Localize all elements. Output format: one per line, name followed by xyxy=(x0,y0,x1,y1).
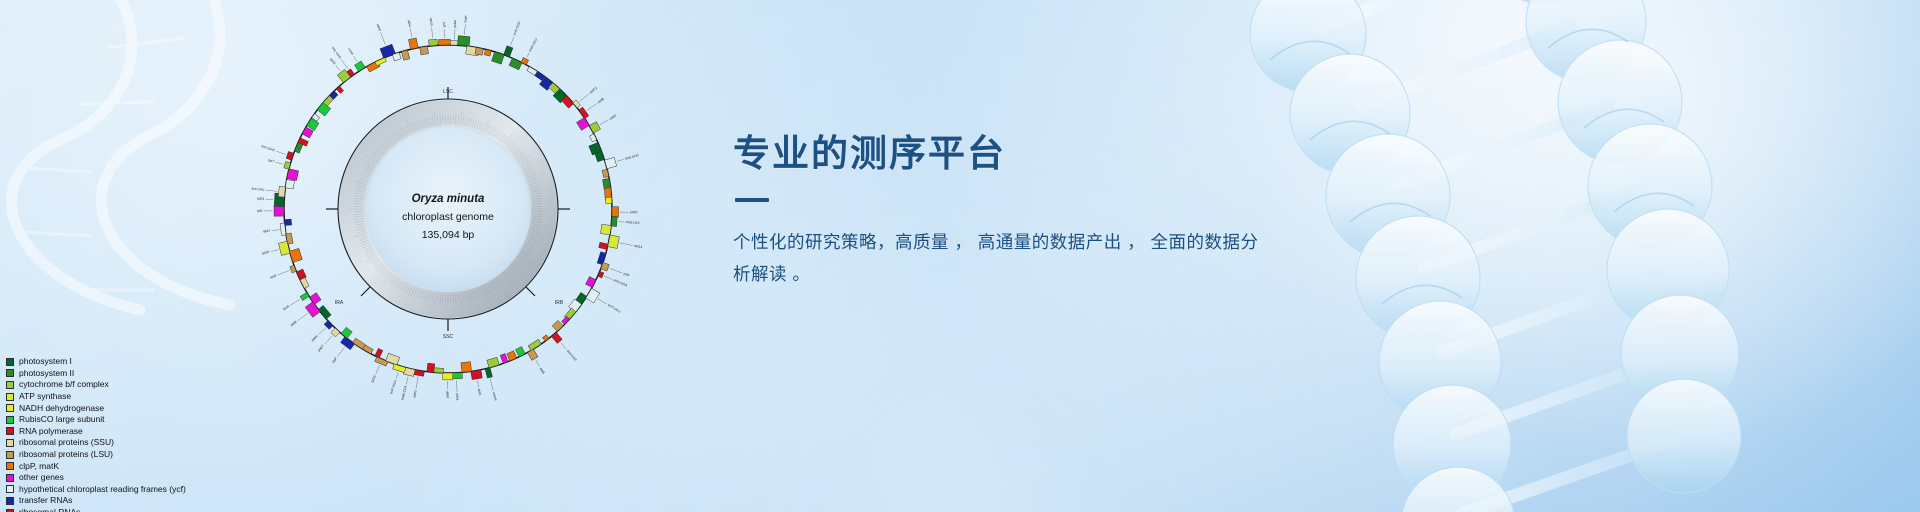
gene-feature-block xyxy=(408,38,418,49)
gene-leader-line xyxy=(353,56,357,62)
gene-label: rps14 xyxy=(634,244,643,250)
gene-label: psbL xyxy=(455,393,459,401)
legend-item-label: photosystem II xyxy=(19,369,74,378)
legend-color-swatch xyxy=(6,474,14,482)
legend-item: transfer RNAs xyxy=(6,495,306,507)
gene-label: psbF xyxy=(446,391,450,398)
gene-leader-line xyxy=(410,29,412,38)
gene-leader-line xyxy=(561,343,567,350)
legend-item-label: cytochrome b/f complex xyxy=(19,380,109,389)
gene-feature-block xyxy=(601,224,612,234)
gene-label: psbA xyxy=(453,19,457,27)
legend-item-label: NADH dehydrogenase xyxy=(19,404,104,413)
gene-leader-line xyxy=(456,380,457,392)
gene-label: rpoC1 xyxy=(589,85,599,94)
gene-label: psbZ xyxy=(630,210,637,214)
gene-label: ycf1 xyxy=(442,22,446,28)
gene-label: rpl23 xyxy=(257,197,265,201)
gene-feature-block xyxy=(605,197,612,203)
gene-feature-block xyxy=(599,242,609,249)
legend-item-label: ribosomal proteins (SSU) xyxy=(19,438,114,447)
gene-leader-line xyxy=(610,268,623,273)
genome-type-label: chloroplast genome xyxy=(402,211,494,223)
gene-label: psbN xyxy=(310,334,319,343)
gene-label: rps7 xyxy=(267,158,274,164)
gene-label: rpoB xyxy=(597,96,606,104)
gene-feature-block xyxy=(509,58,522,70)
legend-item: ribosomal proteins (SSU) xyxy=(6,437,306,449)
legend-item: cytochrome b/f complex xyxy=(6,379,306,391)
genome-legend: photosystem Iphotosystem IIcytochrome b/… xyxy=(6,356,306,512)
gene-feature-block xyxy=(386,353,400,365)
gene-feature-block xyxy=(484,49,491,56)
gene-leader-line xyxy=(600,120,609,125)
gene-leader-line xyxy=(376,365,380,374)
gene-label: trnV-UAC xyxy=(566,349,578,363)
gene-label: ndhA xyxy=(406,19,412,28)
gene-leader-line xyxy=(298,313,308,321)
gene-feature-block xyxy=(590,134,597,142)
genome-map-svg: LSC IRA SSC IRB Oryza minuta chloroplast… xyxy=(243,4,653,414)
legend-item: ATP synthase xyxy=(6,391,306,403)
gene-label: trnI-CAU xyxy=(251,187,265,192)
gene-feature-block xyxy=(605,157,617,168)
legend-item: other genes xyxy=(6,472,306,484)
gene-leader-line xyxy=(276,151,286,154)
legend-item-label: transfer RNAs xyxy=(19,496,72,505)
gene-feature-block xyxy=(586,288,600,303)
legend-item-label: clpP, matK xyxy=(19,462,59,471)
gene-leader-line xyxy=(510,37,513,46)
gene-leader-line xyxy=(477,380,478,387)
gene-label: rpl22 xyxy=(263,229,271,234)
legend-color-swatch xyxy=(6,427,14,435)
gene-leader-line xyxy=(620,243,633,246)
gene-feature-block xyxy=(427,363,435,372)
gene-feature-block xyxy=(284,219,291,225)
gene-feature-block xyxy=(500,354,508,364)
gene-feature-block xyxy=(475,47,483,55)
legend-item-label: hypothetical chloroplast reading frames … xyxy=(19,485,186,494)
region-label-irb: IRB xyxy=(555,300,564,306)
gene-feature-block xyxy=(612,207,619,218)
gene-label: petN xyxy=(609,113,618,120)
gene-leader-line xyxy=(272,230,280,231)
gene-leader-line xyxy=(416,377,418,389)
gene-feature-block xyxy=(485,368,492,379)
legend-color-swatch xyxy=(6,462,14,470)
gene-leader-line xyxy=(324,336,332,345)
gene-leader-line xyxy=(276,162,284,164)
page-title: 专业的测序平台 xyxy=(733,132,1353,176)
legend-color-swatch xyxy=(6,439,14,447)
gene-feature-block xyxy=(285,180,294,189)
gene-label: trnG-UCC xyxy=(626,220,642,225)
gene-leader-line xyxy=(319,328,326,335)
legend-color-swatch xyxy=(6,369,14,377)
gene-label: psbT xyxy=(317,344,325,352)
gene-feature-block xyxy=(289,248,302,262)
gene-label: trnW-CCA xyxy=(400,384,408,400)
legend-item: NADH dehydrogenase xyxy=(6,402,306,414)
gene-feature-block xyxy=(552,320,563,331)
legend-item-label: ribosomal RNAs xyxy=(19,508,80,512)
gene-label: ccsA xyxy=(347,47,355,56)
gene-feature-block xyxy=(611,216,617,226)
legend-color-swatch xyxy=(6,451,14,459)
gene-feature-block xyxy=(573,100,581,108)
gene-feature-block xyxy=(305,302,320,318)
gene-feature-block xyxy=(527,349,538,360)
gene-feature-block xyxy=(586,277,596,288)
legend-item: ribosomal proteins (LSU) xyxy=(6,449,306,461)
gene-feature-block xyxy=(487,357,499,368)
gene-label: trnR-UCU xyxy=(528,37,539,52)
gene-feature-block xyxy=(504,46,513,57)
gene-feature-block xyxy=(341,337,355,350)
gene-feature-block xyxy=(331,328,340,337)
legend-color-swatch xyxy=(6,416,14,424)
legend-color-swatch xyxy=(6,358,14,366)
genome-center-disc xyxy=(366,127,530,291)
legend-row-container: photosystem Iphotosystem IIcytochrome b/… xyxy=(6,356,306,512)
gene-label: trnS-GCU xyxy=(512,20,521,36)
gene-feature-block xyxy=(471,370,483,380)
gene-label: ycf3 xyxy=(623,272,630,278)
gene-feature-block xyxy=(375,348,383,358)
gene-label: rps15 xyxy=(429,17,434,26)
gene-leader-line xyxy=(406,377,408,384)
legend-item-label: ATP synthase xyxy=(19,392,71,401)
legend-item-label: ribosomal proteins (LSU) xyxy=(19,450,113,459)
gene-feature-block xyxy=(438,39,450,45)
gene-feature-block xyxy=(290,265,296,273)
gene-leader-line xyxy=(598,299,607,304)
gene-leader-line xyxy=(290,299,300,305)
genome-species-name: Oryza minuta xyxy=(412,193,485,205)
gene-leader-line xyxy=(490,379,493,391)
region-label-lsc: LSC xyxy=(443,89,453,95)
legend-item-label: RNA polymerase xyxy=(19,427,83,436)
gene-feature-block xyxy=(420,46,429,55)
gene-label: petG xyxy=(412,390,417,398)
gene-feature-block xyxy=(608,235,620,249)
gene-feature-block xyxy=(355,61,365,71)
gene-leader-line xyxy=(536,360,540,367)
legend-item: clpP, matK xyxy=(6,460,306,472)
gene-feature-block xyxy=(341,327,352,338)
gene-leader-line xyxy=(337,347,344,356)
gene-label: matK xyxy=(463,14,468,23)
gene-feature-block xyxy=(461,362,472,373)
gene-leader-line xyxy=(587,103,597,110)
legend-item-label: other genes xyxy=(19,473,64,482)
gene-label: trnE-UUC xyxy=(625,153,640,161)
legend-item: photosystem II xyxy=(6,368,306,380)
legend-item-label: RubisCO large subunit xyxy=(19,415,105,424)
hero-copy-block: 专业的测序平台 个性化的研究策略，高质量 ， 高通量的数据产出 ， 全面的数据分… xyxy=(733,132,1353,290)
gene-label: cemA xyxy=(492,392,498,402)
gene-feature-block xyxy=(542,335,548,341)
legend-color-swatch xyxy=(6,509,14,512)
region-label-ssc: SSC xyxy=(443,334,454,340)
gene-label: trnT-UGU xyxy=(607,303,622,314)
gene-feature-block xyxy=(515,347,525,357)
gene-label: rps8 xyxy=(269,274,277,280)
gene-feature-block xyxy=(274,205,284,216)
gene-label: trnV-GAC xyxy=(261,144,276,152)
legend-color-swatch xyxy=(6,381,14,389)
hero-description: 个性化的研究策略，高质量 ， 高通量的数据产出 ， 全面的数据分析解读 。 xyxy=(733,226,1263,291)
gene-label: petB xyxy=(290,319,298,327)
legend-item-label: photosystem I xyxy=(19,357,72,366)
gene-feature-block xyxy=(287,169,299,181)
gene-leader-line xyxy=(271,250,279,252)
gene-leader-line xyxy=(617,159,624,161)
gene-label: trnS-GGA xyxy=(613,278,629,288)
gene-leader-line xyxy=(341,60,348,69)
gene-feature-block xyxy=(577,118,590,131)
legend-color-swatch xyxy=(6,393,14,401)
legend-color-swatch xyxy=(6,485,14,493)
gene-label: rpl33 xyxy=(370,375,377,383)
gene-label: atpB xyxy=(539,367,546,376)
gene-leader-line xyxy=(278,270,290,275)
gene-label: rpl2 xyxy=(257,209,263,213)
gene-label: rpoA xyxy=(282,304,291,311)
gene-leader-line xyxy=(527,53,530,58)
gene-feature-block xyxy=(429,39,438,46)
legend-color-swatch xyxy=(6,497,14,505)
hero-banner: LSC IRA SSC IRB Oryza minuta chloroplast… xyxy=(0,0,1920,512)
gene-feature-block xyxy=(443,373,453,380)
gene-feature-block xyxy=(589,122,600,133)
gene-leader-line xyxy=(604,276,612,279)
gene-feature-block xyxy=(401,50,409,60)
gene-feature-block xyxy=(507,351,517,361)
genome-size-label: 135,094 bp xyxy=(422,229,475,241)
gene-leader-line xyxy=(579,94,588,102)
gene-leader-line xyxy=(396,372,398,378)
region-label-ira: IRA xyxy=(335,300,344,306)
gene-leader-line xyxy=(336,65,340,71)
gene-label: trnP-UGG xyxy=(389,379,397,395)
legend-item: photosystem I xyxy=(6,356,306,368)
chloroplast-genome-map: LSC IRA SSC IRB Oryza minuta chloroplast… xyxy=(243,4,653,414)
gene-feature-block xyxy=(278,186,285,197)
gene-label: rpl16 xyxy=(262,250,270,256)
gene-label: rpl32 xyxy=(329,57,337,65)
gene-leader-line xyxy=(381,33,386,46)
title-divider xyxy=(735,198,769,202)
gene-leader-line xyxy=(464,25,465,35)
gene-label: ndhE xyxy=(376,23,383,32)
legend-item: RNA polymerase xyxy=(6,426,306,438)
gene-label: clpP xyxy=(331,356,339,364)
gene-leader-line xyxy=(266,190,277,191)
legend-item: RubisCO large subunit xyxy=(6,414,306,426)
gene-feature-block xyxy=(521,58,529,65)
legend-item: ribosomal RNAs xyxy=(6,507,306,512)
gene-feature-block xyxy=(551,332,562,343)
gene-label: petA xyxy=(477,388,482,396)
legend-color-swatch xyxy=(6,404,14,412)
legend-item: hypothetical chloroplast reading frames … xyxy=(6,484,306,496)
gene-feature-block xyxy=(457,36,470,47)
gene-leader-line xyxy=(432,27,433,38)
gene-feature-block xyxy=(595,151,605,162)
